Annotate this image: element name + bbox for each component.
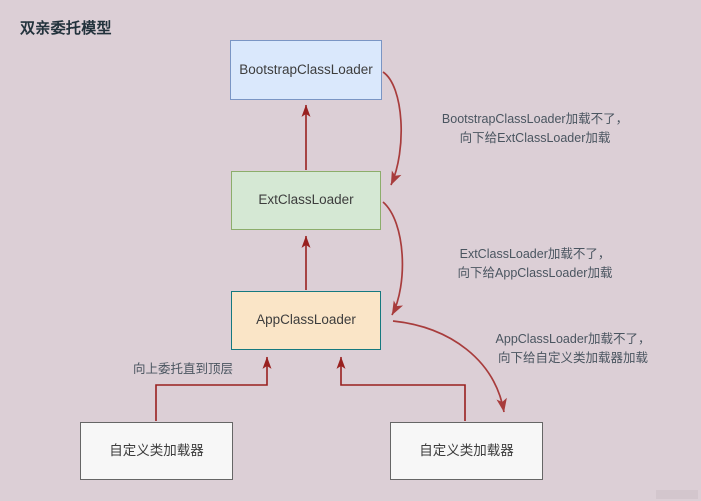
annotation-app-fail: AppClassLoader加载不了， 向下给自定义类加载器加载 [450,330,696,369]
page-title: 双亲委托模型 [20,17,112,38]
annotation-bootstrap-fail: BootstrapClassLoader加载不了， 向下给ExtClassLoa… [404,110,666,149]
node-label: AppClassLoader [256,312,356,328]
node-label: ExtClassLoader [258,192,353,208]
node-ext-classloader[interactable]: ExtClassLoader [231,171,381,230]
arrow-customright-to-app [341,357,465,421]
node-custom-classloader-right[interactable]: 自定义类加载器 [390,422,543,480]
curve-ext-to-app [383,202,402,315]
node-label: 自定义类加载器 [419,443,514,459]
node-label: 自定义类加载器 [109,443,204,459]
node-bootstrap-classloader[interactable]: BootstrapClassLoader [230,40,382,100]
annotation-delegate-up: 向上委托直到顶层 [88,360,278,379]
curve-bootstrap-to-ext [383,72,401,185]
watermark-block [656,490,698,499]
node-label: BootstrapClassLoader [239,62,373,78]
node-app-classloader[interactable]: AppClassLoader [231,291,381,350]
node-custom-classloader-left[interactable]: 自定义类加载器 [80,422,233,480]
annotation-ext-fail: ExtClassLoader加载不了， 向下给AppClassLoader加载 [404,245,666,284]
